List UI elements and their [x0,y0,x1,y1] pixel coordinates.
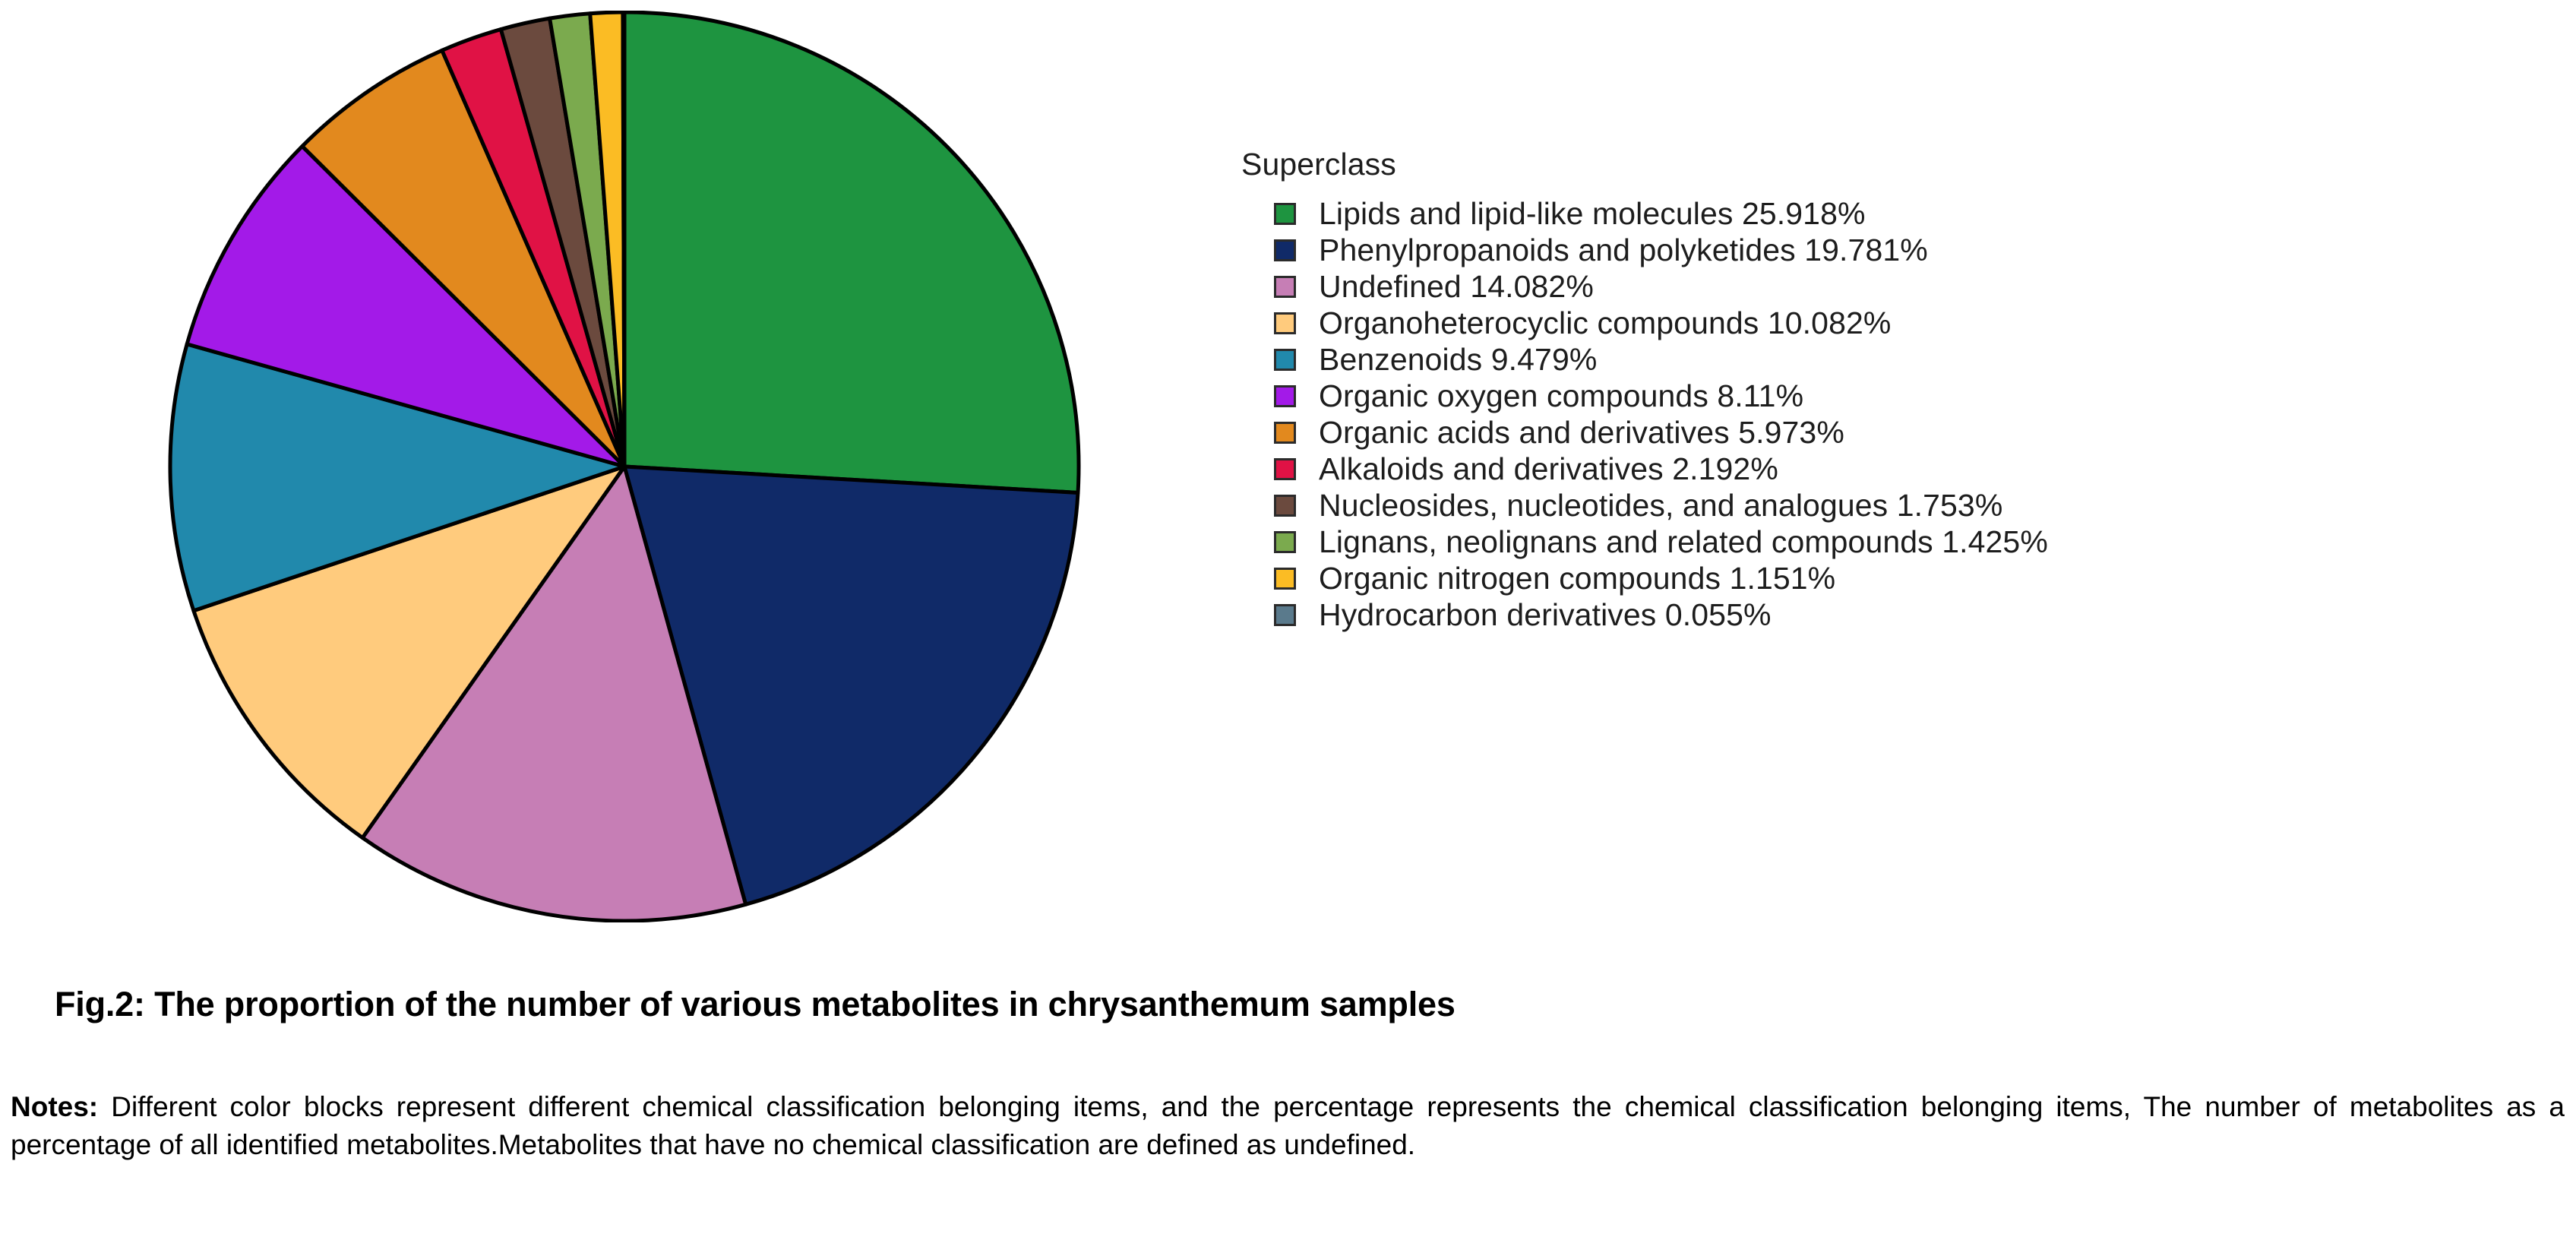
legend-item[interactable]: Hydrocarbon derivatives 0.055% [1241,596,2472,633]
legend-item-label: Undefined 14.082% [1319,268,1594,305]
figure-title: Fig.2: The proportion of the number of v… [55,985,1456,1024]
legend-item-label: Benzenoids 9.479% [1319,341,1597,378]
pie-slice-group [170,12,1079,921]
legend-color-swatch [1274,276,1296,298]
legend-item-label: Lipids and lipid-like molecules 25.918% [1319,195,1866,232]
legend-color-swatch [1274,568,1296,590]
legend-color-swatch [1274,312,1296,334]
legend-color-swatch [1274,239,1296,261]
legend-color-swatch [1274,385,1296,407]
legend-item[interactable]: Organic oxygen compounds 8.11% [1241,378,2472,414]
figure-notes: Notes: Different color blocks represent … [11,1088,2565,1164]
legend-item-label: Organoheterocyclic compounds 10.082% [1319,305,1891,341]
pie-chart [70,11,1179,922]
legend-color-swatch [1274,422,1296,444]
legend-color-swatch [1274,531,1296,553]
legend-item-label: Phenylpropanoids and polyketides 19.781% [1319,232,1928,268]
legend-item[interactable]: Undefined 14.082% [1241,268,2472,305]
legend-item[interactable]: Organic acids and derivatives 5.973% [1241,414,2472,451]
legend-title: Superclass [1241,146,2472,182]
legend-items: Lipids and lipid-like molecules 25.918%P… [1241,195,2472,633]
legend: Superclass Lipids and lipid-like molecul… [1241,146,2472,633]
legend-item-label: Organic nitrogen compounds 1.151% [1319,560,1835,596]
legend-color-swatch [1274,458,1296,480]
legend-item-label: Organic acids and derivatives 5.973% [1319,414,1844,451]
legend-color-swatch [1274,203,1296,225]
pie-slice[interactable] [623,12,624,467]
legend-item-label: Hydrocarbon derivatives 0.055% [1319,596,1772,633]
legend-item[interactable]: Organic nitrogen compounds 1.151% [1241,560,2472,596]
notes-body: Different color blocks represent differe… [11,1091,2565,1160]
legend-item[interactable]: Alkaloids and derivatives 2.192% [1241,451,2472,487]
legend-item[interactable]: Organoheterocyclic compounds 10.082% [1241,305,2472,341]
legend-color-swatch [1274,349,1296,371]
pie-slice[interactable] [624,12,1079,492]
notes-label: Notes: [11,1091,98,1122]
legend-item-label: Lignans, neolignans and related compound… [1319,524,2048,560]
legend-item-label: Nucleosides, nucleotides, and analogues … [1319,487,2002,524]
legend-color-swatch [1274,604,1296,626]
pie-chart-svg [70,11,1179,922]
legend-item[interactable]: Nucleosides, nucleotides, and analogues … [1241,487,2472,524]
legend-item[interactable]: Phenylpropanoids and polyketides 19.781% [1241,232,2472,268]
legend-item-label: Alkaloids and derivatives 2.192% [1319,451,1778,487]
legend-item[interactable]: Lipids and lipid-like molecules 25.918% [1241,195,2472,232]
legend-item[interactable]: Lignans, neolignans and related compound… [1241,524,2472,560]
legend-color-swatch [1274,495,1296,517]
legend-item[interactable]: Benzenoids 9.479% [1241,341,2472,378]
figure-page: Superclass Lipids and lipid-like molecul… [0,0,2576,1237]
legend-item-label: Organic oxygen compounds 8.11% [1319,378,1803,414]
